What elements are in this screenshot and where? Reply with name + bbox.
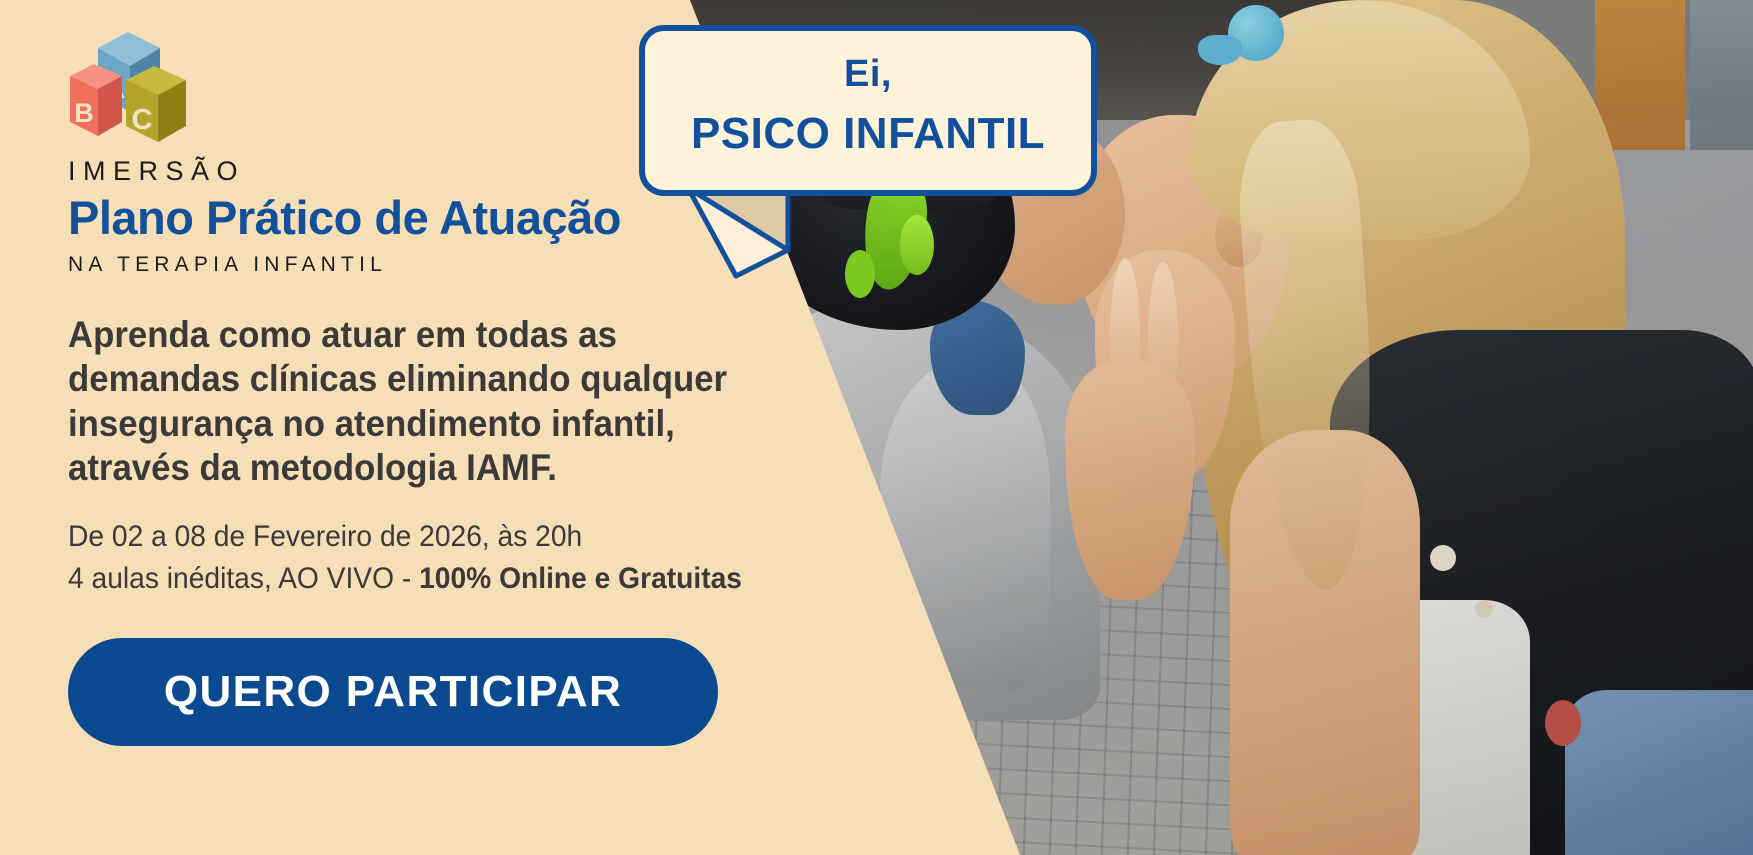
content-column: A B C IMERSÃO Plano Prático de (0, 0, 950, 855)
promo-banner: Ei, PSICO INFANTIL A B (0, 0, 1753, 855)
schedule-details-highlight: 100% Online e Gratuitas (419, 562, 742, 595)
schedule-details-prefix: 4 aulas inéditas, AO VIVO - (68, 562, 419, 595)
block-c-icon: C (126, 66, 186, 142)
quero-participar-button[interactable]: QUERO PARTICIPAR (68, 638, 718, 746)
page-title: Plano Prático de Atuação (68, 193, 950, 243)
subtitle-text: NA TERAPIA INFANTIL (68, 253, 950, 277)
schedule-details-line: 4 aulas inéditas, AO VIVO - 100% Online … (68, 558, 897, 600)
abc-blocks-icon: A B C (68, 26, 193, 144)
schedule-block: De 02 a 08 de Fevereiro de 2026, às 20h … (68, 516, 897, 600)
block-b-icon: B (70, 64, 122, 136)
svg-text:C: C (132, 104, 153, 136)
svg-text:B: B (74, 98, 94, 128)
eyebrow-text: IMERSÃO (68, 156, 950, 187)
schedule-date-line: De 02 a 08 de Fevereiro de 2026, às 20h (68, 516, 897, 558)
description-paragraph: Aprenda como atuar em todas as demandas … (68, 313, 764, 491)
